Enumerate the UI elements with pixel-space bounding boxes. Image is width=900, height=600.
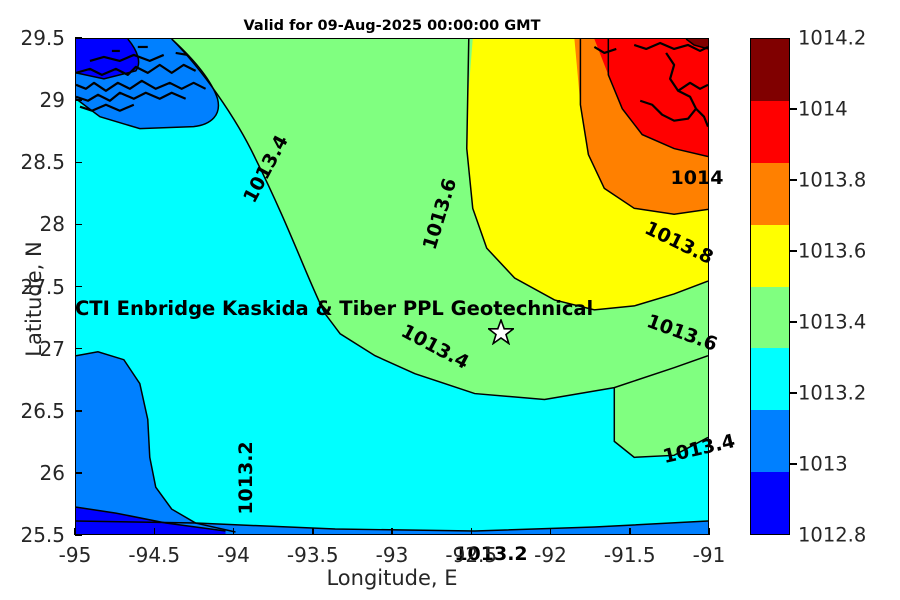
y-tick-mark [75, 286, 82, 288]
x-tick-mark [154, 528, 156, 535]
y-tick-mark [75, 472, 82, 474]
x-tick-mark [550, 528, 552, 535]
colorbar-tick-mark [790, 179, 797, 181]
chart-title: Valid for 09-Aug-2025 00:00:00 GMT [75, 18, 709, 34]
contour-label-7: 1013.2 [235, 441, 257, 514]
x-tick-mark [391, 528, 393, 535]
colorbar-tick-1014: 1014 [798, 98, 848, 121]
y-tick-label-25.5: 25.5 [0, 523, 65, 547]
contour-label-2: 1014 [671, 167, 724, 189]
y-tick-mark [75, 224, 82, 226]
colorbar-band-0 [751, 39, 789, 101]
y-tick-mark [75, 162, 82, 164]
y-tick-mark [75, 99, 82, 101]
figure-root: Valid for 09-Aug-2025 00:00:00 GMT [0, 0, 900, 600]
colorbar-tick-mark [790, 250, 797, 252]
contour-plot-area[interactable] [75, 38, 709, 535]
colorbar-tick-1013.2: 1013.2 [798, 382, 866, 405]
colorbar-tick-1013.4: 1013.4 [798, 311, 866, 334]
colorbar-band-5 [751, 348, 789, 410]
y-tick-mark [75, 534, 82, 536]
y-tick-label-29.5: 29.5 [0, 26, 65, 50]
y-axis-title: Latitude, N [22, 209, 46, 389]
x-tick-label--93: -93 [376, 543, 409, 567]
colorbar-band-4 [751, 287, 789, 349]
x-tick-label--92.5: -92.5 [445, 543, 497, 567]
star-marker[interactable] [488, 319, 514, 345]
colorbar-band-7 [751, 472, 789, 534]
x-tick-mark [629, 528, 631, 535]
colorbar-tick-mark [790, 321, 797, 323]
colorbar-tick-1013.8: 1013.8 [798, 169, 866, 192]
x-tick-mark [471, 528, 473, 535]
x-tick-label--92: -92 [534, 543, 567, 567]
y-tick-label-26.5: 26.5 [0, 399, 65, 423]
y-tick-label-29: 29 [0, 88, 65, 112]
x-tick-mark [708, 528, 710, 535]
x-tick-label--95: -95 [59, 543, 92, 567]
x-tick-mark [233, 528, 235, 535]
colorbar-band-1 [751, 101, 789, 163]
colorbar-band-6 [751, 410, 789, 472]
y-tick-mark [75, 410, 82, 412]
colorbar-tick-1013: 1013 [798, 453, 848, 476]
x-tick-mark [312, 528, 314, 535]
x-tick-mark [74, 528, 76, 535]
y-tick-mark [75, 37, 82, 39]
contour-field [76, 39, 708, 534]
y-tick-label-28.5: 28.5 [0, 150, 65, 174]
site-label: CTI Enbridge Kaskida & Tiber PPL Geotech… [75, 297, 593, 320]
y-tick-mark [75, 348, 82, 350]
colorbar-band-2 [751, 163, 789, 225]
x-tick-label--91: -91 [693, 543, 726, 567]
colorbar-tick-1014.2: 1014.2 [798, 27, 866, 50]
colorbar-tick-mark [790, 108, 797, 110]
colorbar[interactable] [750, 38, 790, 535]
x-tick-label--94: -94 [217, 543, 250, 567]
colorbar-tick-1012.8: 1012.8 [798, 524, 866, 547]
x-tick-label--93.5: -93.5 [287, 543, 339, 567]
colorbar-tick-mark [790, 463, 797, 465]
x-tick-label--91.5: -91.5 [604, 543, 656, 567]
x-tick-label--94.5: -94.5 [128, 543, 180, 567]
colorbar-band-3 [751, 225, 789, 287]
colorbar-tick-mark [790, 392, 797, 394]
colorbar-tick-1013.6: 1013.6 [798, 240, 866, 263]
y-tick-label-26: 26 [0, 461, 65, 485]
x-axis-title: Longitude, E [75, 566, 709, 590]
